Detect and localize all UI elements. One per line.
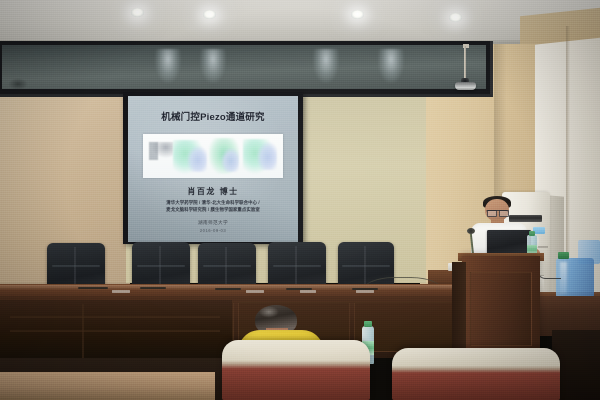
slide-title: 机械门控Piezo通道研究 [128, 109, 298, 123]
podium-bottle-cap [529, 231, 535, 236]
dark-wall-panel [2, 45, 486, 89]
ceiling-light-2 [203, 10, 216, 19]
panel-chair-3 [198, 243, 256, 289]
slide-speaker-name: 肖百龙 博士 [128, 186, 298, 197]
slide-date: 2016-09-03 [128, 228, 298, 233]
table-microphone-3 [215, 288, 241, 290]
projection-screen: 机械门控Piezo通道研究 肖百龙 博士 清华大学药学院 / 清华-北大生命科学… [128, 96, 298, 242]
panel-reflection-2 [200, 49, 226, 83]
table-microphone-2 [140, 287, 166, 289]
water-cooler-highlight [560, 262, 567, 294]
panel-chair-2 [132, 242, 190, 289]
table-nameplate-4 [356, 290, 374, 293]
table-nameplate-1 [112, 290, 130, 293]
foreground-seat-right [392, 348, 560, 400]
foreground-seat-left [222, 340, 370, 400]
lecture-hall-photo: 机械门控Piezo通道研究 肖百龙 博士 清华大学药学院 / 清华-北大生命科学… [0, 0, 600, 400]
panel-reflection-3 [313, 49, 339, 83]
audience-bottle-cap [364, 321, 372, 327]
slide-affiliation: 清华大学药学院 / 清华-北大生命科学联合中心 / 麦戈文脑科学研究院 / 膜生… [136, 200, 290, 213]
bench-divider [82, 304, 84, 360]
panel-chair-1 [47, 243, 105, 289]
podium-front-panel [470, 272, 532, 346]
figure-trace-plot [149, 142, 173, 160]
slide-affiliation-line-1: 清华大学药学院 / 清华-北大生命科学联合中心 / [136, 200, 290, 207]
ceiling-light-1 [131, 8, 144, 17]
foreground-bench [0, 300, 232, 362]
table-microphone-1 [78, 287, 108, 289]
podium-microphone-icon [467, 228, 475, 234]
panel-chair-4 [268, 242, 326, 289]
bench-slat-2 [10, 330, 220, 332]
panel-reflection-1 [155, 49, 181, 83]
protein-structure-4 [221, 148, 239, 172]
table-nameplate-2 [246, 290, 264, 293]
ceiling [0, 0, 600, 42]
air-conditioner-grille [509, 215, 542, 222]
protein-structure-6 [257, 142, 277, 170]
slide-university: 湖南师范大学 [128, 220, 298, 226]
slide-figure-panel [143, 134, 283, 178]
ceiling-light-3 [351, 10, 364, 19]
panel-smudge [8, 78, 28, 90]
podium-side-shadow [452, 262, 466, 354]
ceiling-light-4 [449, 13, 462, 22]
table-nameplate-3 [300, 290, 316, 293]
panel-reflection-4 [378, 49, 404, 83]
slide-affiliation-line-2: 麦戈文脑科学研究院 / 膜生物学国家重点实验室 [136, 207, 290, 214]
presenter-glasses-bridge [486, 210, 508, 216]
protein-structure-2 [187, 146, 207, 172]
floor-step [0, 372, 215, 400]
ceiling-camera-icon [455, 82, 476, 90]
audience-member-hair-highlight [259, 306, 279, 318]
bench-slat-1 [10, 316, 220, 318]
